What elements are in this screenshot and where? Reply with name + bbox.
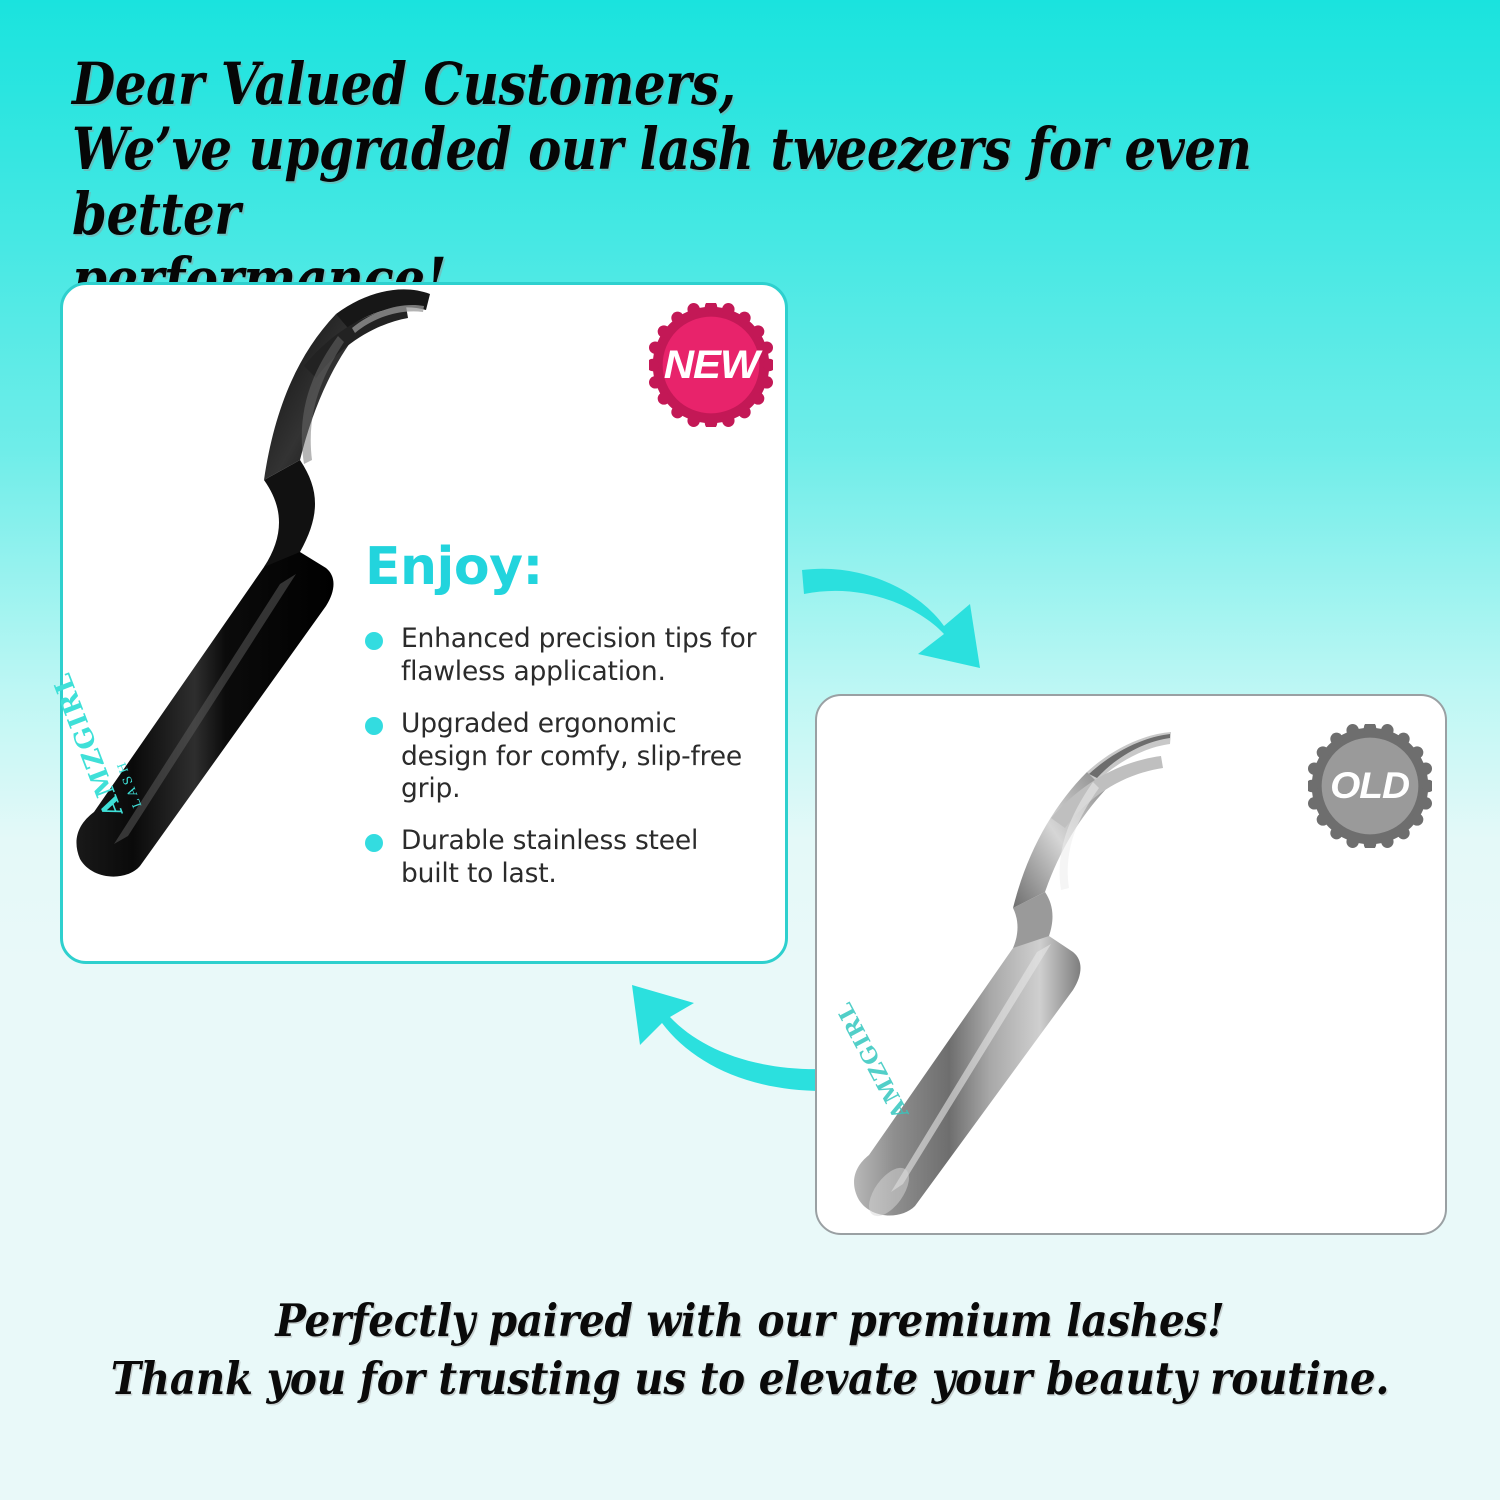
footer-message: Perfectly paired with our premium lashes… <box>0 1292 1500 1407</box>
page-headline: Dear Valued Customers, We’ve upgraded ou… <box>72 52 1267 312</box>
bullet-dot-icon <box>365 632 383 650</box>
bullet-dot-icon <box>365 717 383 735</box>
arrow-old-to-new-icon <box>618 983 833 1103</box>
new-badge: NEW <box>649 303 773 427</box>
footer-line-1: Perfectly paired with our premium lashes… <box>75 1292 1425 1350</box>
old-badge-label: OLD <box>1331 765 1410 807</box>
old-badge: OLD <box>1308 724 1432 848</box>
bullet-dot-icon <box>365 834 383 852</box>
list-item-text: Enhanced precision tips for flawless app… <box>401 623 756 687</box>
list-item-text: Durable stainless steel built to last. <box>401 825 698 889</box>
list-item-text: Upgraded ergonomic design for comfy, sli… <box>401 708 742 805</box>
list-item: Upgraded ergonomic design for comfy, sli… <box>365 708 763 807</box>
list-item: Enhanced precision tips for flawless app… <box>365 623 763 689</box>
old-tweezer-image <box>845 722 1275 1222</box>
enjoy-title: Enjoy: <box>365 541 763 593</box>
benefits-list: Enhanced precision tips for flawless app… <box>365 623 763 891</box>
footer-line-2: Thank you for trusting us to elevate you… <box>75 1350 1425 1408</box>
new-badge-label: NEW <box>664 343 759 388</box>
list-item: Durable stainless steel built to last. <box>365 825 763 891</box>
arrow-new-to-old-icon <box>790 548 990 673</box>
promo-banner: Dear Valued Customers, We’ve upgraded ou… <box>0 0 1500 1500</box>
enjoy-section: Enjoy: Enhanced precision tips for flawl… <box>365 541 763 910</box>
